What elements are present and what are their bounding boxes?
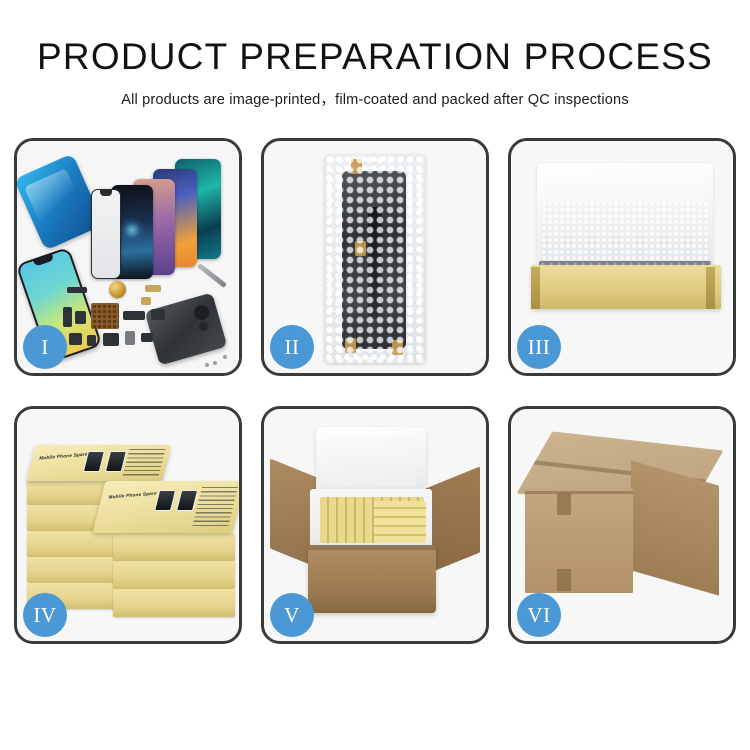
spare-part xyxy=(123,311,145,320)
carton-seam xyxy=(525,491,633,494)
box-product-photo xyxy=(154,490,176,511)
phone-screen-fan xyxy=(89,159,239,277)
page-subtitle: All products are image-printed，film-coat… xyxy=(0,88,750,109)
spare-part xyxy=(67,287,87,293)
box-product-photo xyxy=(176,490,198,511)
box-spec-text-block xyxy=(192,487,238,525)
stacked-box xyxy=(113,533,235,561)
step-badge-5: V xyxy=(270,593,314,637)
retail-box-stack: Mobile Phone Spare Parts Mobile Phone Sp… xyxy=(25,425,235,625)
carton-tape xyxy=(557,493,571,515)
speaker-coil-part xyxy=(109,281,126,298)
stacked-box xyxy=(113,589,235,617)
step-panel-2: II xyxy=(261,138,489,376)
foam-cooler-lid xyxy=(316,427,426,495)
step-panel-3: III xyxy=(508,138,736,376)
spare-part xyxy=(87,335,96,346)
carton-tape xyxy=(557,569,571,591)
spare-part xyxy=(63,307,72,327)
spare-part xyxy=(145,285,161,292)
stacked-box xyxy=(113,561,235,589)
spare-part xyxy=(103,333,119,346)
infographic-page: PRODUCT PREPARATION PROCESS All products… xyxy=(0,0,750,750)
step-panel-4: Mobile Phone Spare Parts Mobile Phone Sp… xyxy=(14,406,242,644)
packed-yellow-boxes xyxy=(374,501,426,543)
carton-front-face xyxy=(525,489,633,593)
shipping-carton-body xyxy=(308,545,436,613)
spare-part xyxy=(75,311,86,324)
phone-screen-glass-front xyxy=(91,189,121,279)
ic-chip-part xyxy=(91,303,119,329)
step-badge-1: I xyxy=(23,325,67,369)
printed-box-lid: Mobile Phone Spare Parts xyxy=(27,445,172,481)
screw-part xyxy=(205,363,209,367)
spare-part xyxy=(141,333,153,342)
step-panel-6: VI xyxy=(508,406,736,644)
spare-part xyxy=(125,331,135,345)
spare-part xyxy=(141,297,151,305)
spare-part xyxy=(151,309,165,320)
step-panel-1: I xyxy=(14,138,242,376)
screw-part xyxy=(213,361,217,365)
box-spec-text-block xyxy=(123,449,165,476)
page-title: PRODUCT PREPARATION PROCESS xyxy=(0,38,750,77)
foam-sheet xyxy=(541,201,709,263)
bubble-wrap-sleeve xyxy=(325,155,425,363)
box-flap-right xyxy=(706,267,715,309)
step-badge-4: IV xyxy=(23,593,67,637)
kraft-inner-box xyxy=(531,265,721,309)
box-flap-left xyxy=(531,267,540,309)
bubble-texture-overlay xyxy=(325,155,425,363)
step-badge-3: III xyxy=(517,325,561,369)
screw-part xyxy=(223,355,227,359)
step-badge-2: II xyxy=(270,325,314,369)
printed-box-lid: Mobile Phone Spare Parts xyxy=(93,481,239,533)
process-steps-grid: I II xyxy=(14,138,736,644)
step-badge-6: VI xyxy=(517,593,561,637)
box-product-photo xyxy=(83,451,105,472)
header: PRODUCT PREPARATION PROCESS All products… xyxy=(0,0,750,109)
spare-part xyxy=(69,333,82,345)
step-panel-5: V xyxy=(261,406,489,644)
